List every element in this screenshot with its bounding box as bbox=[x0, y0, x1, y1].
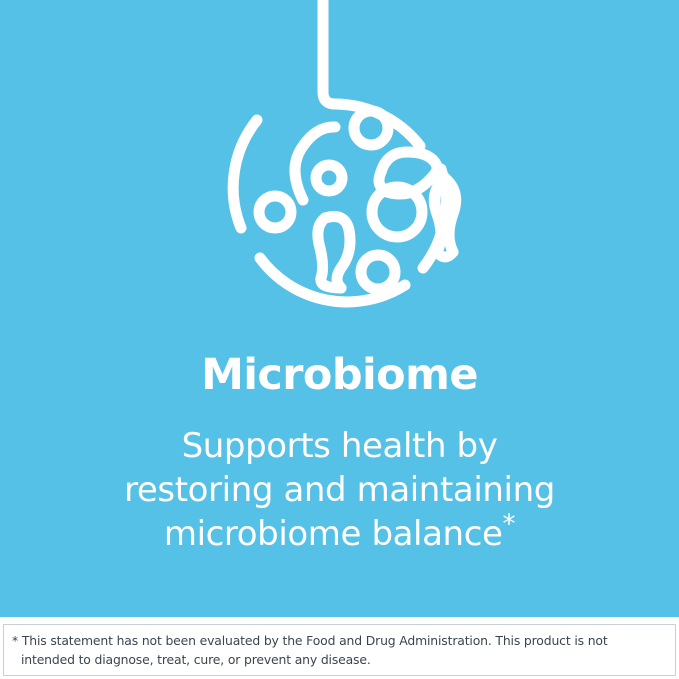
product-benefit-card: Microbiome Supports health by restoring … bbox=[0, 0, 679, 679]
disclaimer-line-2: intended to diagnose, treat, cure, or pr… bbox=[12, 651, 664, 670]
hero-subtitle-line-3-text: microbiome balance bbox=[164, 514, 503, 554]
page-title: Microbiome bbox=[0, 350, 679, 400]
disclaimer-line-1: * This statement has not been evaluated … bbox=[12, 633, 608, 648]
hero-subtitle: Supports health by restoring and maintai… bbox=[0, 424, 679, 556]
footnote-marker: * bbox=[503, 510, 516, 540]
hero-icon-container bbox=[0, 0, 679, 330]
hero-subtitle-line-1: Supports health by bbox=[60, 424, 619, 468]
hero-subtitle-line-2: restoring and maintaining bbox=[60, 468, 619, 512]
microbiome-petri-dish-icon bbox=[175, 0, 505, 330]
hero-subtitle-line-3: microbiome balance* bbox=[60, 512, 619, 556]
disclaimer-text: * This statement has not been evaluated … bbox=[12, 632, 664, 669]
disclaimer-box: * This statement has not been evaluated … bbox=[3, 624, 676, 676]
hero-panel: Microbiome Supports health by restoring … bbox=[0, 0, 679, 617]
